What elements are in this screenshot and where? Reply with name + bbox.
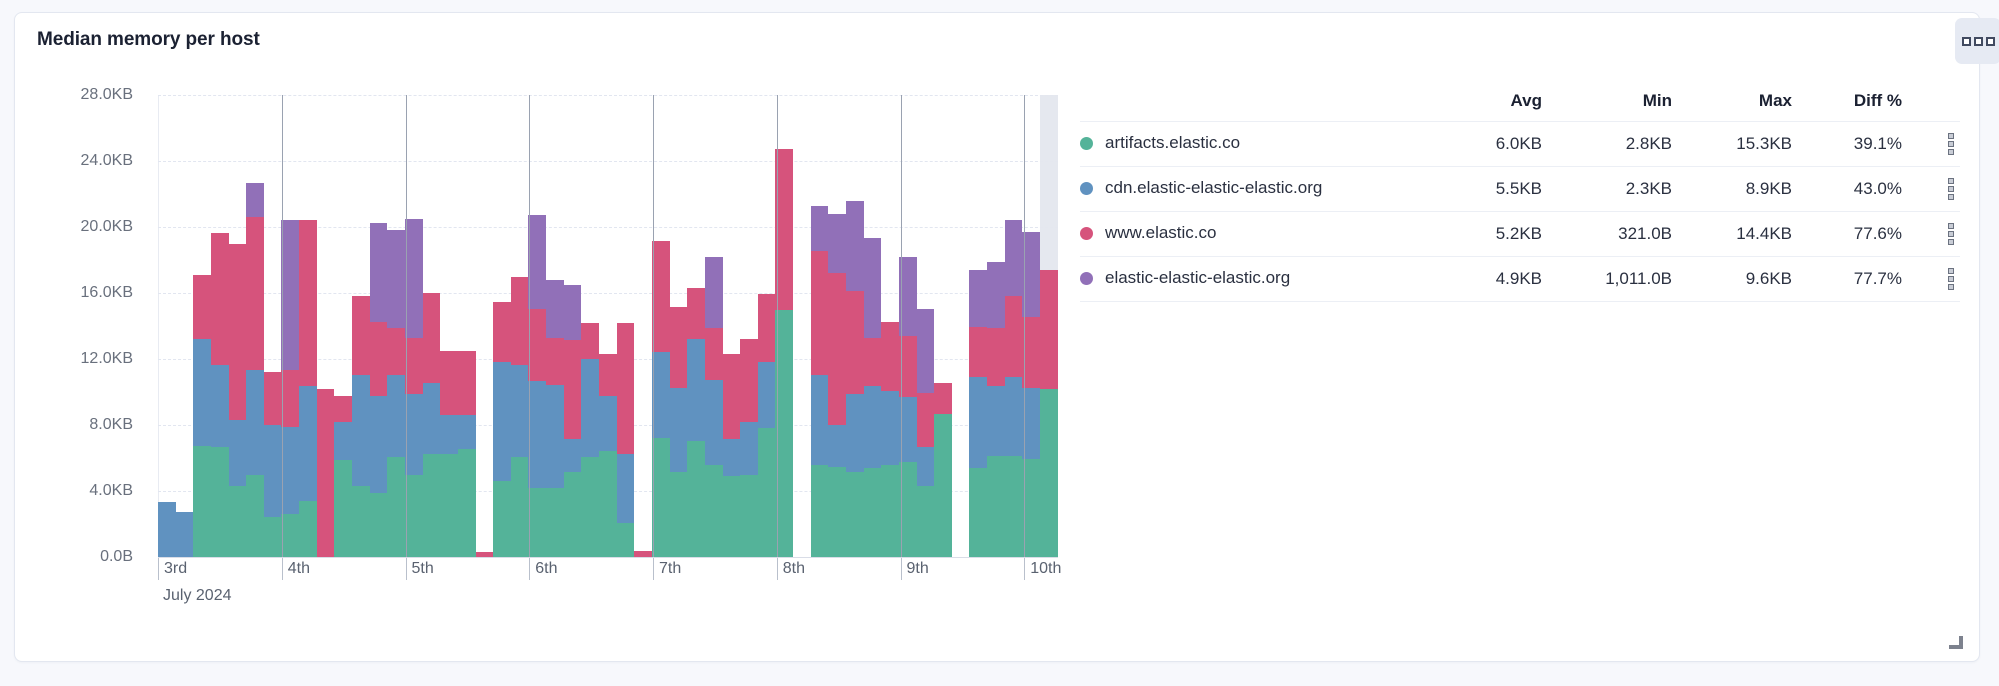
bar-segment[interactable] bbox=[546, 385, 564, 488]
bar-segment[interactable] bbox=[581, 457, 599, 557]
bar-segment[interactable] bbox=[423, 383, 441, 454]
legend-avg-value: 5.2KB bbox=[1422, 212, 1542, 257]
bar-segment[interactable] bbox=[229, 420, 247, 486]
legend-row-drag-handle-cell[interactable] bbox=[1902, 167, 1960, 212]
bar-stack[interactable] bbox=[828, 95, 846, 557]
bar-stack[interactable] bbox=[176, 95, 194, 557]
bar-stack[interactable] bbox=[193, 95, 211, 557]
bar-stack[interactable] bbox=[864, 95, 882, 557]
day-separator bbox=[529, 95, 530, 557]
bar-segment[interactable] bbox=[423, 454, 441, 557]
legend-min-value: 2.8KB bbox=[1542, 122, 1672, 167]
bar-segment[interactable] bbox=[828, 273, 846, 424]
x-axis-tick-label: 4th bbox=[282, 558, 310, 580]
page-title: Median memory per host bbox=[37, 29, 260, 51]
bar-series-container bbox=[158, 95, 1058, 557]
x-axis-tick-label: 7th bbox=[653, 558, 681, 580]
legend-series-label: elastic-elastic-elastic.org bbox=[1105, 268, 1290, 288]
bar-segment[interactable] bbox=[264, 517, 282, 557]
bar-segment[interactable] bbox=[846, 394, 864, 471]
legend-diff-value: 43.0% bbox=[1792, 167, 1902, 212]
day-separator bbox=[1024, 95, 1025, 557]
bar-segment[interactable] bbox=[864, 468, 882, 557]
bar-segment[interactable] bbox=[246, 217, 264, 370]
y-axis-tick-label: 16.0KB bbox=[81, 284, 133, 302]
bar-segment[interactable] bbox=[599, 354, 617, 396]
bar-stack[interactable] bbox=[846, 95, 864, 557]
bar-stack[interactable] bbox=[881, 95, 899, 557]
bar-segment[interactable] bbox=[846, 472, 864, 557]
bar-segment[interactable] bbox=[281, 220, 299, 370]
col-header-diff[interactable]: Diff % bbox=[1792, 91, 1902, 122]
bar-segment[interactable] bbox=[705, 257, 723, 328]
bar-segment[interactable] bbox=[987, 328, 1005, 386]
bar-stack[interactable] bbox=[405, 95, 423, 557]
day-separator bbox=[653, 95, 654, 557]
bar-segment[interactable] bbox=[652, 352, 670, 437]
day-separator bbox=[406, 95, 407, 557]
bar-segment[interactable] bbox=[864, 338, 882, 386]
drag-grip-icon[interactable] bbox=[1948, 223, 1954, 245]
table-row[interactable]: elastic-elastic-elastic.org4.9KB1,011.0B… bbox=[1080, 257, 1960, 302]
bar-segment[interactable] bbox=[811, 251, 829, 375]
bar-segment[interactable] bbox=[881, 465, 899, 557]
bar-segment[interactable] bbox=[264, 425, 282, 517]
bar-segment[interactable] bbox=[334, 422, 352, 461]
bar-segment[interactable] bbox=[193, 446, 211, 557]
bar-segment[interactable] bbox=[670, 307, 688, 388]
bar-segment[interactable] bbox=[299, 386, 317, 500]
bar-segment[interactable] bbox=[1005, 456, 1023, 558]
bar-stack[interactable] bbox=[987, 95, 1005, 557]
y-axis-tick-label: 24.0KB bbox=[81, 152, 133, 170]
col-header-name[interactable] bbox=[1080, 91, 1422, 122]
bar-segment[interactable] bbox=[458, 449, 476, 557]
bar-segment[interactable] bbox=[811, 375, 829, 465]
bar-stack[interactable] bbox=[246, 95, 264, 557]
bar-stack[interactable] bbox=[370, 95, 388, 557]
bar-stack[interactable] bbox=[158, 95, 176, 557]
bar-stack[interactable] bbox=[564, 95, 582, 557]
bar-segment[interactable] bbox=[493, 362, 511, 481]
bar-segment[interactable] bbox=[370, 396, 388, 493]
bar-segment[interactable] bbox=[969, 377, 987, 469]
bar-stack[interactable] bbox=[581, 95, 599, 557]
chart-area: 28.0KB24.0KB20.0KB16.0KB12.0KB8.0KB4.0KB… bbox=[15, 67, 1065, 647]
bar-segment[interactable] bbox=[299, 501, 317, 557]
resize-corner-icon[interactable] bbox=[1947, 633, 1965, 651]
bar-stack[interactable] bbox=[334, 95, 352, 557]
bar-segment[interactable] bbox=[370, 493, 388, 557]
incomplete-bucket-shade bbox=[1040, 95, 1058, 270]
day-separator bbox=[901, 95, 902, 557]
legend-color-dot-icon bbox=[1080, 272, 1093, 285]
bar-stack[interactable] bbox=[440, 95, 458, 557]
legend-series-label: www.elastic.co bbox=[1105, 223, 1216, 243]
legend-avg-value: 4.9KB bbox=[1422, 257, 1542, 302]
x-axis-tick-label: 3rd bbox=[158, 558, 187, 580]
bar-segment[interactable] bbox=[687, 288, 705, 340]
bar-stack[interactable] bbox=[423, 95, 441, 557]
bar-segment[interactable] bbox=[352, 486, 370, 557]
legend-diff-value: 77.7% bbox=[1792, 257, 1902, 302]
bar-segment[interactable] bbox=[670, 472, 688, 557]
bar-segment[interactable] bbox=[1005, 377, 1023, 456]
legend-color-dot-icon bbox=[1080, 137, 1093, 150]
x-axis-tick-label: 6th bbox=[529, 558, 557, 580]
bar-segment[interactable] bbox=[246, 475, 264, 557]
col-header-avg[interactable]: Avg bbox=[1422, 91, 1542, 122]
legend-series-name-cell[interactable]: elastic-elastic-elastic.org bbox=[1080, 257, 1422, 299]
bar-stack[interactable] bbox=[793, 95, 811, 557]
bar-segment[interactable] bbox=[281, 370, 299, 426]
bar-segment[interactable] bbox=[617, 523, 635, 557]
bar-stack[interactable] bbox=[969, 95, 987, 557]
bar-segment[interactable] bbox=[528, 488, 546, 557]
bar-segment[interactable] bbox=[405, 219, 423, 338]
legend-series-label: cdn.elastic-elastic-elastic.org bbox=[1105, 178, 1322, 198]
legend-avg-value: 6.0KB bbox=[1422, 122, 1542, 167]
bar-segment[interactable] bbox=[740, 339, 758, 421]
bar-segment[interactable] bbox=[387, 328, 405, 375]
bar-segment[interactable] bbox=[546, 488, 564, 557]
bar-segment[interactable] bbox=[458, 351, 476, 415]
bar-segment[interactable] bbox=[1040, 389, 1058, 557]
bar-stack[interactable] bbox=[476, 95, 494, 557]
bar-segment[interactable] bbox=[387, 230, 405, 328]
table-header-row: Avg Min Max Diff % bbox=[1080, 91, 1960, 122]
bar-segment[interactable] bbox=[229, 486, 247, 557]
bar-segment[interactable] bbox=[617, 454, 635, 523]
bar-segment[interactable] bbox=[917, 486, 935, 557]
plot-area[interactable] bbox=[158, 95, 1058, 557]
bar-segment[interactable] bbox=[458, 415, 476, 449]
bar-segment[interactable] bbox=[1005, 296, 1023, 377]
bar-segment[interactable] bbox=[511, 365, 529, 457]
bar-segment[interactable] bbox=[493, 481, 511, 557]
legend-avg-value: 5.5KB bbox=[1422, 167, 1542, 212]
bar-stack[interactable] bbox=[281, 95, 299, 557]
bar-segment[interactable] bbox=[546, 338, 564, 385]
bar-segment[interactable] bbox=[581, 323, 599, 358]
bar-segment[interactable] bbox=[969, 327, 987, 377]
bar-segment[interactable] bbox=[405, 338, 423, 394]
bar-segment[interactable] bbox=[899, 336, 917, 397]
bar-segment[interactable] bbox=[987, 456, 1005, 558]
legend-series-label: artifacts.elastic.co bbox=[1105, 133, 1240, 153]
bar-segment[interactable] bbox=[440, 415, 458, 454]
grid-three-squares-icon bbox=[1962, 37, 1995, 46]
bar-segment[interactable] bbox=[899, 462, 917, 557]
legend-max-value: 14.4KB bbox=[1672, 212, 1792, 257]
y-axis-tick-label: 4.0KB bbox=[89, 482, 133, 500]
day-separator bbox=[777, 95, 778, 557]
bar-stack[interactable] bbox=[229, 95, 247, 557]
bar-segment[interactable] bbox=[969, 270, 987, 326]
bar-segment[interactable] bbox=[193, 275, 211, 339]
bar-segment[interactable] bbox=[528, 381, 546, 487]
drag-grip-icon[interactable] bbox=[1948, 178, 1954, 200]
y-axis-tick-label: 0.0B bbox=[100, 548, 133, 566]
bar-stack[interactable] bbox=[458, 95, 476, 557]
bar-segment[interactable] bbox=[758, 294, 776, 362]
bar-stack[interactable] bbox=[299, 95, 317, 557]
bar-stack[interactable] bbox=[652, 95, 670, 557]
legend-min-value: 321.0B bbox=[1542, 212, 1672, 257]
x-axis-tick-label: 5th bbox=[406, 558, 434, 580]
bar-segment[interactable] bbox=[723, 439, 741, 476]
bar-stack[interactable] bbox=[687, 95, 705, 557]
x-axis-tick-label: 9th bbox=[901, 558, 929, 580]
x-axis-title: July 2024 bbox=[163, 587, 232, 605]
bar-stack[interactable] bbox=[493, 95, 511, 557]
bar-segment[interactable] bbox=[405, 394, 423, 475]
bar-segment[interactable] bbox=[775, 149, 793, 310]
bar-segment[interactable] bbox=[564, 285, 582, 340]
table-header: Avg Min Max Diff % bbox=[1080, 91, 1960, 122]
bar-segment[interactable] bbox=[564, 340, 582, 440]
bar-segment[interactable] bbox=[687, 441, 705, 557]
bar-segment[interactable] bbox=[828, 467, 846, 557]
bar-segment[interactable] bbox=[846, 291, 864, 394]
bar-segment[interactable] bbox=[758, 428, 776, 557]
col-header-handle bbox=[1902, 91, 1960, 122]
legend-row-drag-handle-cell[interactable] bbox=[1902, 257, 1960, 302]
table-row[interactable]: artifacts.elastic.co6.0KB2.8KB15.3KB39.1… bbox=[1080, 122, 1960, 167]
bar-segment[interactable] bbox=[211, 233, 229, 365]
bar-segment[interactable] bbox=[158, 502, 176, 557]
legend-color-dot-icon bbox=[1080, 227, 1093, 240]
bar-stack[interactable] bbox=[670, 95, 688, 557]
bar-stack[interactable] bbox=[899, 95, 917, 557]
bar-segment[interactable] bbox=[352, 296, 370, 375]
drag-grip-icon[interactable] bbox=[1948, 268, 1954, 290]
bar-segment[interactable] bbox=[370, 223, 388, 321]
table-row[interactable]: www.elastic.co5.2KB321.0B14.4KB77.6% bbox=[1080, 212, 1960, 257]
bar-segment[interactable] bbox=[493, 302, 511, 362]
bar-stack[interactable] bbox=[511, 95, 529, 557]
bar-segment[interactable] bbox=[211, 447, 229, 557]
bar-stack[interactable] bbox=[740, 95, 758, 557]
legend-diff-value: 39.1% bbox=[1792, 122, 1902, 167]
bar-segment[interactable] bbox=[1040, 270, 1058, 389]
bar-segment[interactable] bbox=[370, 322, 388, 396]
bar-segment[interactable] bbox=[934, 414, 952, 557]
bar-segment[interactable] bbox=[705, 380, 723, 465]
bar-segment[interactable] bbox=[740, 422, 758, 475]
bar-stack[interactable] bbox=[546, 95, 564, 557]
bar-segment[interactable] bbox=[1005, 220, 1023, 296]
bar-stack[interactable] bbox=[528, 95, 546, 557]
bar-segment[interactable] bbox=[917, 447, 935, 486]
bar-segment[interactable] bbox=[775, 310, 793, 557]
bar-segment[interactable] bbox=[440, 454, 458, 557]
series-table: Avg Min Max Diff % artifacts.elastic.co6… bbox=[1080, 91, 1960, 302]
bar-segment[interactable] bbox=[511, 277, 529, 366]
col-header-min[interactable]: Min bbox=[1542, 91, 1672, 122]
bar-segment[interactable] bbox=[581, 359, 599, 457]
bar-stack[interactable] bbox=[952, 95, 970, 557]
bar-segment[interactable] bbox=[723, 354, 741, 439]
legend-series-name-cell[interactable]: cdn.elastic-elastic-elastic.org bbox=[1080, 167, 1422, 209]
bar-segment[interactable] bbox=[599, 396, 617, 451]
bar-stack[interactable] bbox=[264, 95, 282, 557]
dashboard-page: Median memory per host 28.0KB24.0KB20.0K… bbox=[0, 0, 1999, 686]
bar-segment[interactable] bbox=[705, 328, 723, 380]
bar-stack[interactable] bbox=[705, 95, 723, 557]
bar-segment[interactable] bbox=[264, 372, 282, 425]
y-axis-tick-label: 20.0KB bbox=[81, 218, 133, 236]
bar-segment[interactable] bbox=[546, 280, 564, 338]
bar-segment[interactable] bbox=[334, 396, 352, 422]
bar-segment[interactable] bbox=[864, 238, 882, 338]
bar-segment[interactable] bbox=[387, 457, 405, 557]
bar-segment[interactable] bbox=[987, 386, 1005, 455]
legend-max-value: 8.9KB bbox=[1672, 167, 1792, 212]
bar-stack[interactable] bbox=[1005, 95, 1023, 557]
bar-segment[interactable] bbox=[864, 386, 882, 468]
bar-segment[interactable] bbox=[528, 215, 546, 308]
legend-table: Avg Min Max Diff % artifacts.elastic.co6… bbox=[1080, 91, 1960, 302]
panel-header: Median memory per host bbox=[15, 13, 1979, 67]
y-axis: 28.0KB24.0KB20.0KB16.0KB12.0KB8.0KB4.0KB… bbox=[15, 67, 143, 587]
x-axis: July 2024 3rd4th5th6th7th8th9th10th bbox=[158, 557, 1058, 627]
bar-segment[interactable] bbox=[334, 460, 352, 557]
bar-segment[interactable] bbox=[899, 257, 917, 336]
bar-segment[interactable] bbox=[881, 322, 899, 391]
bar-segment[interactable] bbox=[740, 475, 758, 557]
bar-stack[interactable] bbox=[917, 95, 935, 557]
bar-stack[interactable] bbox=[775, 95, 793, 557]
bar-stack[interactable] bbox=[934, 95, 952, 557]
bar-segment[interactable] bbox=[193, 339, 211, 445]
bar-segment[interactable] bbox=[352, 375, 370, 486]
bar-segment[interactable] bbox=[176, 512, 194, 557]
x-axis-tick-label: 10th bbox=[1024, 558, 1061, 580]
bar-stack[interactable] bbox=[599, 95, 617, 557]
legend-row-drag-handle-cell[interactable] bbox=[1902, 122, 1960, 167]
bar-stack[interactable] bbox=[317, 95, 335, 557]
legend-min-value: 1,011.0B bbox=[1542, 257, 1672, 302]
bar-segment[interactable] bbox=[246, 183, 264, 217]
bar-segment[interactable] bbox=[652, 438, 670, 557]
col-header-max[interactable]: Max bbox=[1672, 91, 1792, 122]
bar-stack[interactable] bbox=[211, 95, 229, 557]
bar-stack[interactable] bbox=[723, 95, 741, 557]
bar-segment[interactable] bbox=[617, 323, 635, 454]
bar-segment[interactable] bbox=[723, 476, 741, 557]
bar-segment[interactable] bbox=[652, 241, 670, 352]
bar-segment[interactable] bbox=[211, 365, 229, 447]
drag-grip-icon[interactable] bbox=[1948, 133, 1954, 155]
panel-context-menu-button[interactable] bbox=[1955, 18, 1999, 64]
bar-stack[interactable] bbox=[617, 95, 635, 557]
bar-segment[interactable] bbox=[687, 339, 705, 441]
y-axis-tick-label: 12.0KB bbox=[81, 350, 133, 368]
bar-segment[interactable] bbox=[899, 397, 917, 461]
table-row[interactable]: cdn.elastic-elastic-elastic.org5.5KB2.3K… bbox=[1080, 167, 1960, 212]
bar-segment[interactable] bbox=[229, 244, 247, 420]
bar-segment[interactable] bbox=[317, 389, 335, 557]
bar-segment[interactable] bbox=[387, 375, 405, 457]
bar-segment[interactable] bbox=[811, 206, 829, 251]
legend-max-value: 9.6KB bbox=[1672, 257, 1792, 302]
legend-color-dot-icon bbox=[1080, 182, 1093, 195]
bar-segment[interactable] bbox=[423, 293, 441, 383]
bar-segment[interactable] bbox=[564, 472, 582, 557]
bar-segment[interactable] bbox=[811, 465, 829, 557]
bar-stack[interactable] bbox=[634, 95, 652, 557]
bar-segment[interactable] bbox=[564, 439, 582, 471]
bar-segment[interactable] bbox=[599, 451, 617, 557]
bar-segment[interactable] bbox=[670, 388, 688, 472]
y-axis-tick-label: 8.0KB bbox=[89, 416, 133, 434]
legend-row-drag-handle-cell[interactable] bbox=[1902, 212, 1960, 257]
bar-segment[interactable] bbox=[969, 468, 987, 557]
legend-series-name-cell[interactable]: www.elastic.co bbox=[1080, 212, 1422, 254]
legend-min-value: 2.3KB bbox=[1542, 167, 1672, 212]
bar-segment[interactable] bbox=[511, 457, 529, 557]
bar-segment[interactable] bbox=[846, 201, 864, 291]
bar-segment[interactable] bbox=[281, 427, 299, 514]
bar-stack[interactable] bbox=[758, 95, 776, 557]
bar-stack[interactable] bbox=[352, 95, 370, 557]
bar-segment[interactable] bbox=[281, 514, 299, 558]
legend-max-value: 15.3KB bbox=[1672, 122, 1792, 167]
bar-segment[interactable] bbox=[881, 391, 899, 465]
bar-segment[interactable] bbox=[987, 262, 1005, 328]
table-body: artifacts.elastic.co6.0KB2.8KB15.3KB39.1… bbox=[1080, 122, 1960, 302]
bar-segment[interactable] bbox=[917, 309, 935, 393]
chart-panel: Median memory per host 28.0KB24.0KB20.0K… bbox=[14, 12, 1980, 662]
legend-diff-value: 77.6% bbox=[1792, 212, 1902, 257]
x-axis-tick-label: 8th bbox=[777, 558, 805, 580]
bar-segment[interactable] bbox=[934, 383, 952, 414]
bar-segment[interactable] bbox=[705, 465, 723, 557]
bar-segment[interactable] bbox=[299, 220, 317, 386]
legend-series-name-cell[interactable]: artifacts.elastic.co bbox=[1080, 122, 1422, 164]
bar-segment[interactable] bbox=[246, 370, 264, 475]
bar-segment[interactable] bbox=[917, 393, 935, 448]
bar-segment[interactable] bbox=[528, 309, 546, 382]
day-separator bbox=[282, 95, 283, 557]
bar-segment[interactable] bbox=[405, 475, 423, 557]
bar-segment[interactable] bbox=[828, 214, 846, 274]
y-axis-tick-label: 28.0KB bbox=[81, 86, 133, 104]
bar-segment[interactable] bbox=[828, 425, 846, 467]
bar-segment[interactable] bbox=[440, 351, 458, 415]
bar-stack[interactable] bbox=[387, 95, 405, 557]
bar-stack[interactable] bbox=[811, 95, 829, 557]
bar-segment[interactable] bbox=[758, 362, 776, 428]
